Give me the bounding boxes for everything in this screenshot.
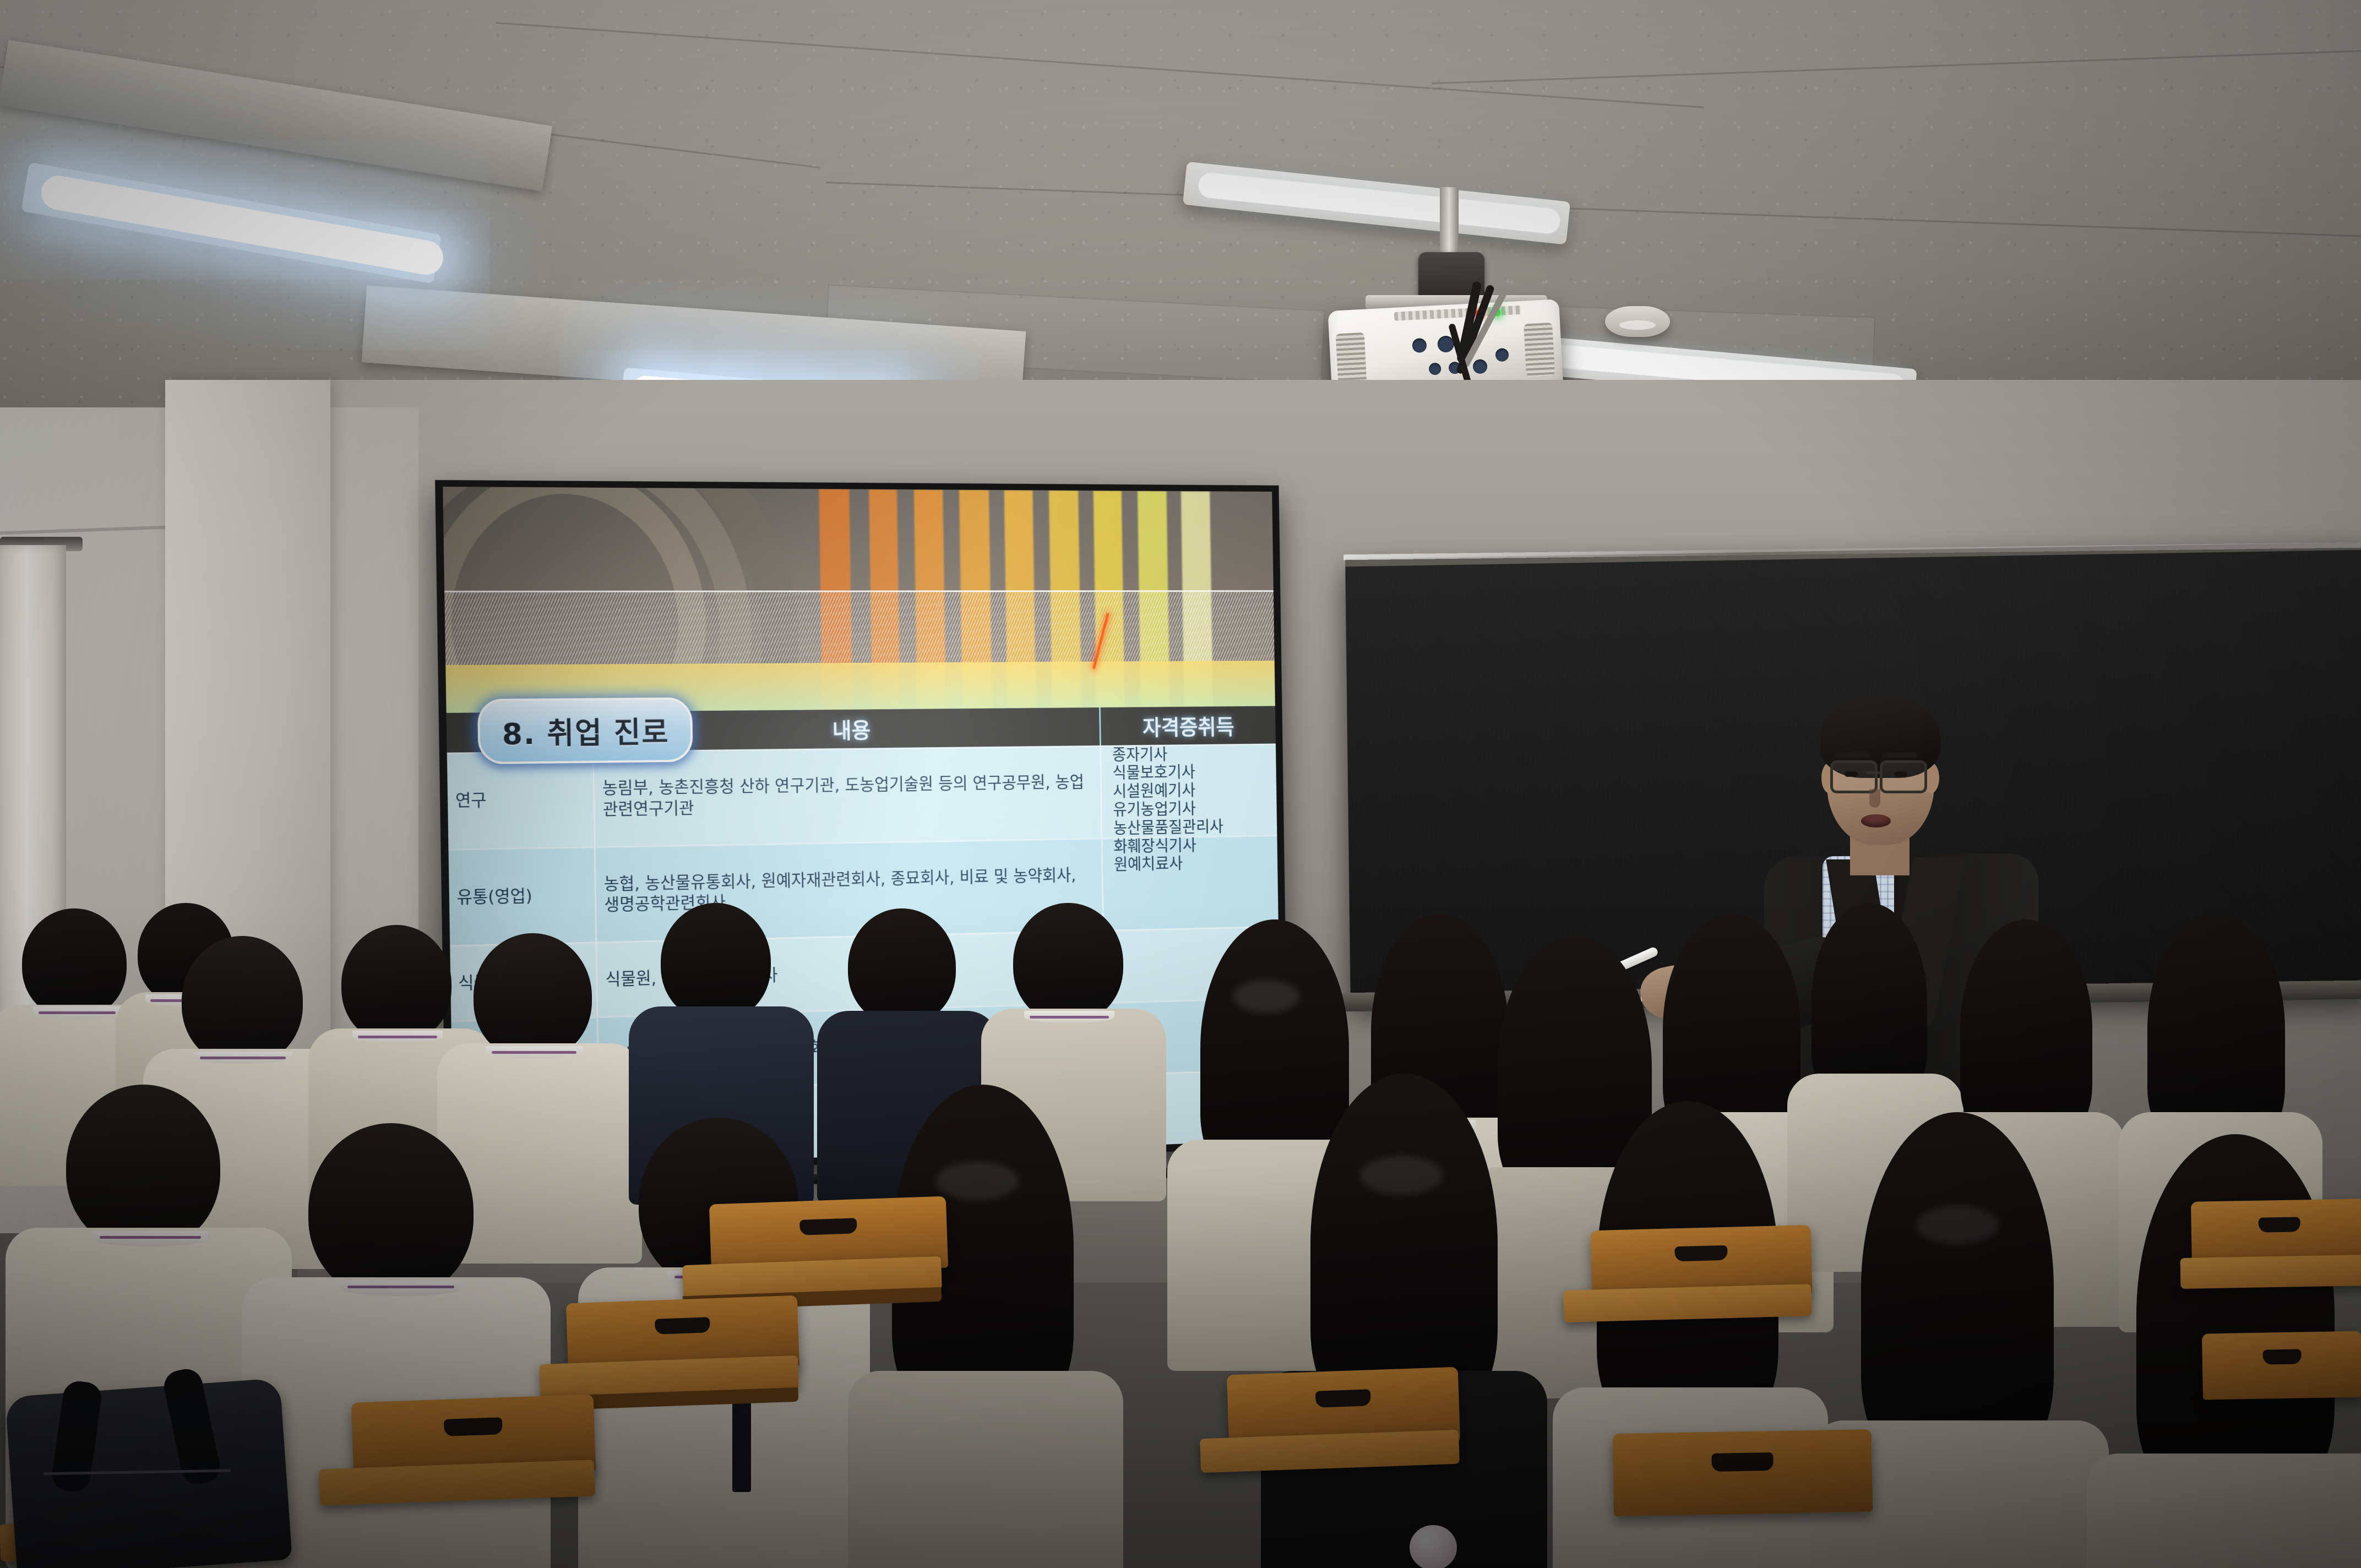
eyeglasses-icon <box>1830 760 1878 793</box>
presenter-mouth <box>1861 814 1891 827</box>
desk-tablet-arm[interactable] <box>1563 1284 1811 1322</box>
presenter-eyebrow <box>1835 753 1870 758</box>
banner-hatch-band <box>444 590 1275 667</box>
cell-certification <box>1101 745 1277 838</box>
desk-tablet-arm[interactable] <box>2180 1255 2361 1289</box>
projector-port <box>1472 359 1487 374</box>
backpack-strap <box>50 1379 104 1494</box>
eyeglasses-bridge <box>1867 771 1880 774</box>
smoke-detector-icon <box>1605 306 1670 337</box>
projector-vent-right <box>1524 323 1555 377</box>
chair-backrest[interactable] <box>2202 1331 2361 1400</box>
column-header-certification: 자격증취득 <box>1101 706 1276 745</box>
backpack[interactable] <box>5 1378 292 1568</box>
hair-scrunchie <box>1410 1525 1457 1568</box>
presenter-nose <box>1869 789 1880 808</box>
projector-vent-left <box>1336 333 1367 387</box>
presenter-eye <box>1894 771 1907 777</box>
chair-backrest[interactable] <box>1613 1429 1873 1516</box>
projector-port <box>1495 348 1509 362</box>
slide-banner <box>443 487 1275 712</box>
classroom-scene: 8. 취업 진로 분야 내용 자격증취득 연구 농림부, 농촌진흥청 산하 연구… <box>0 0 2361 1568</box>
projector-port <box>1429 363 1441 375</box>
presenter-eyebrow <box>1882 753 1917 758</box>
projector-port <box>1412 338 1427 353</box>
slide-title: 8. 취업 진로 <box>477 697 693 764</box>
audience <box>0 903 2361 1568</box>
eyeglasses-icon <box>1880 760 1927 793</box>
cell-field: 연구 <box>447 752 596 848</box>
projector-vent-strip <box>1394 306 1521 321</box>
presenter-eye <box>1845 771 1858 777</box>
